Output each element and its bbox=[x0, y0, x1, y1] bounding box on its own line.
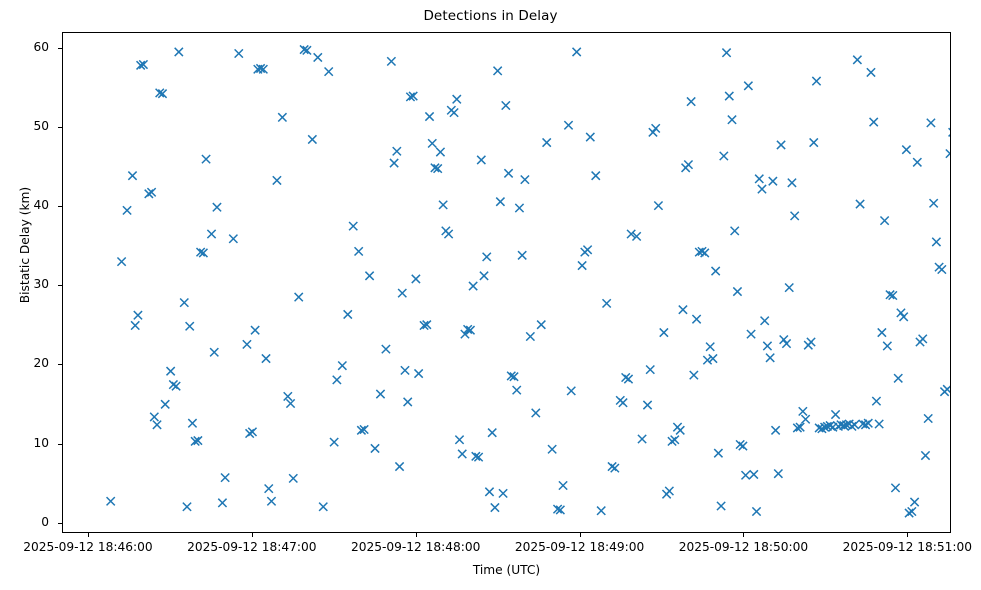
y-tick-label: 10 bbox=[33, 436, 49, 450]
x-tick-mark bbox=[907, 533, 908, 537]
x-tick-label: 2025-09-12 18:49:00 bbox=[515, 540, 644, 554]
y-tick-mark bbox=[58, 127, 62, 128]
y-tick-mark bbox=[58, 523, 62, 524]
x-tick-mark bbox=[416, 533, 417, 537]
x-tick-label: 2025-09-12 18:48:00 bbox=[351, 540, 480, 554]
x-tick-mark bbox=[88, 533, 89, 537]
x-tick-label: 2025-09-12 18:46:00 bbox=[23, 540, 152, 554]
page-title: Detections in Delay bbox=[0, 8, 981, 24]
x-tick-label: 2025-09-12 18:47:00 bbox=[187, 540, 316, 554]
y-tick-mark bbox=[58, 48, 62, 49]
y-tick-label: 40 bbox=[33, 198, 49, 212]
y-tick-mark bbox=[58, 444, 62, 445]
x-tick-mark bbox=[743, 533, 744, 537]
x-tick-mark bbox=[252, 533, 253, 537]
y-axis-label: Bistatic Delay (km) bbox=[18, 105, 32, 385]
figure-canvas: Detections in Delay 0102030405060 2025-0… bbox=[0, 0, 981, 590]
y-tick-label: 50 bbox=[33, 119, 49, 133]
scatter-layer bbox=[63, 33, 950, 532]
plot-area bbox=[62, 32, 951, 533]
x-tick-label: 2025-09-12 18:51:00 bbox=[843, 540, 972, 554]
y-tick-label: 60 bbox=[33, 40, 49, 54]
y-tick-label: 0 bbox=[41, 515, 49, 529]
y-tick-mark bbox=[58, 285, 62, 286]
x-tick-label: 2025-09-12 18:50:00 bbox=[679, 540, 808, 554]
y-tick-mark bbox=[58, 364, 62, 365]
x-axis-label: Time (UTC) bbox=[62, 563, 951, 577]
y-tick-mark bbox=[58, 206, 62, 207]
y-tick-label: 30 bbox=[33, 277, 49, 291]
y-tick-label: 20 bbox=[33, 356, 49, 370]
x-tick-mark bbox=[580, 533, 581, 537]
